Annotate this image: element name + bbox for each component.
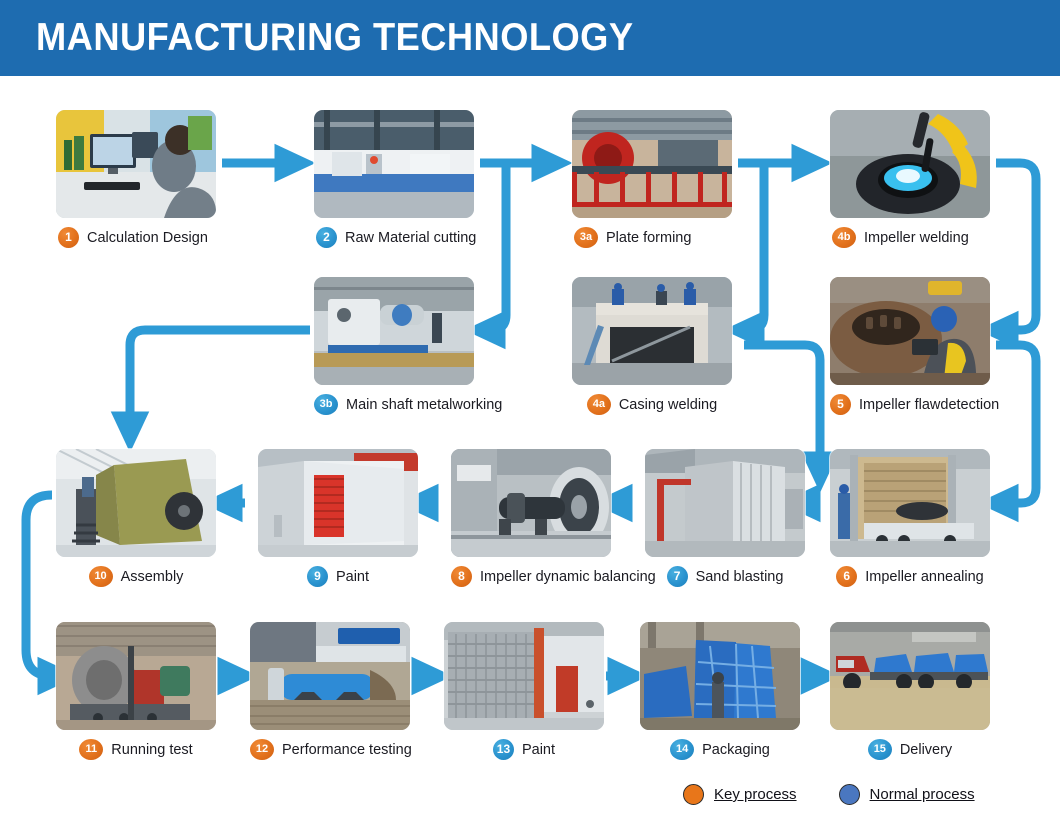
step-label: Plate forming [606, 230, 691, 246]
step-badge: 1 [58, 227, 79, 248]
step-impeller-annealing[interactable]: 6 Impeller annealing [830, 449, 990, 587]
step-delivery[interactable]: 15 Delivery [830, 622, 990, 760]
arrow-5-to-6 [996, 345, 1036, 503]
step-label: Paint [522, 742, 555, 758]
step-label: Impeller welding [864, 230, 969, 246]
photo-delivery [830, 622, 990, 730]
photo-impeller-flawdetection [830, 277, 990, 385]
photo-assembly [56, 449, 216, 557]
step-paint-13[interactable]: 13 Paint [444, 622, 604, 760]
step-label: Impeller dynamic balancing [480, 569, 656, 585]
step-raw-material-cutting[interactable]: 2 Raw Material cutting [314, 110, 476, 248]
step-assembly[interactable]: 10 Assembly [56, 449, 216, 587]
caption-paint-9: 9 Paint [258, 566, 418, 587]
caption-casing-welding: 4a Casing welding [572, 394, 732, 415]
step-main-shaft-metalworking[interactable]: 3b Main shaft metalworking [314, 277, 502, 415]
caption-paint-13: 13 Paint [444, 739, 604, 760]
step-casing-welding[interactable]: 4a Casing welding [572, 277, 732, 415]
caption-sand-blasting: 7 Sand blasting [645, 566, 805, 587]
photo-sand-blasting [645, 449, 805, 557]
step-impeller-dynamic-balancing[interactable]: 8 Impeller dynamic balancing [451, 449, 656, 587]
step-impeller-flawdetection[interactable]: 5 Impeller flawdetection [830, 277, 999, 415]
step-badge: 4a [587, 394, 611, 415]
caption-performance-testing: 12 Performance testing [250, 739, 412, 760]
caption-calculation-design: 1 Calculation Design [56, 227, 216, 248]
legend-item-normal-process: Normal process [839, 784, 975, 805]
step-calculation-design[interactable]: 1 Calculation Design [56, 110, 216, 248]
step-badge: 6 [836, 566, 857, 587]
step-badge: 12 [250, 739, 274, 760]
caption-impeller-flawdetection: 5 Impeller flawdetection [830, 394, 999, 415]
caption-plate-forming: 3a Plate forming [572, 227, 732, 248]
caption-main-shaft-metalworking: 3b Main shaft metalworking [314, 394, 502, 415]
step-badge: 5 [830, 394, 851, 415]
arrow-3b-to-10 [130, 330, 310, 432]
normal-process-dot-icon [839, 784, 860, 805]
step-label: Performance testing [282, 742, 412, 758]
step-label: Raw Material cutting [345, 230, 476, 246]
step-plate-forming[interactable]: 3a Plate forming [572, 110, 732, 248]
step-badge: 13 [493, 739, 514, 760]
step-badge: 3a [574, 227, 598, 248]
photo-plate-forming [572, 110, 732, 218]
caption-raw-material-cutting: 2 Raw Material cutting [314, 227, 476, 248]
step-impeller-welding[interactable]: 4b Impeller welding [830, 110, 990, 248]
step-badge: 7 [667, 566, 688, 587]
step-label: Delivery [900, 742, 952, 758]
photo-running-test [56, 622, 216, 730]
photo-impeller-annealing [830, 449, 990, 557]
step-badge: 15 [868, 739, 892, 760]
photo-impeller-welding [830, 110, 990, 218]
step-badge: 9 [307, 566, 328, 587]
step-label: Packaging [702, 742, 770, 758]
step-badge: 14 [670, 739, 694, 760]
photo-raw-material-cutting [314, 110, 474, 218]
step-label: Impeller annealing [865, 569, 984, 585]
manufacturing-flowchart: MANUFACTURING TECHNOLOGY [0, 0, 1060, 832]
step-paint-9[interactable]: 9 Paint [258, 449, 418, 587]
photo-paint-13 [444, 622, 604, 730]
step-label: Sand blasting [696, 569, 784, 585]
step-label: Assembly [121, 569, 184, 585]
step-badge: 4b [832, 227, 856, 248]
step-badge: 3b [314, 394, 338, 415]
step-label: Paint [336, 569, 369, 585]
caption-assembly: 10 Assembly [56, 566, 216, 587]
arrow-10-to-11 [26, 495, 58, 676]
step-label: Impeller flawdetection [859, 397, 999, 413]
photo-main-shaft-metalworking [314, 277, 474, 385]
legend-label-key: Key process [714, 786, 797, 803]
step-label: Main shaft metalworking [346, 397, 502, 413]
legend: Key process Normal process [683, 784, 975, 805]
step-label: Casing welding [619, 397, 717, 413]
photo-performance-testing [250, 622, 410, 730]
step-label: Running test [111, 742, 192, 758]
step-badge: 2 [316, 227, 337, 248]
photo-calculation-design [56, 110, 216, 218]
photo-casing-welding [572, 277, 732, 385]
step-label: Calculation Design [87, 230, 208, 246]
caption-impeller-annealing: 6 Impeller annealing [830, 566, 990, 587]
caption-delivery: 15 Delivery [830, 739, 990, 760]
step-badge: 10 [89, 566, 113, 587]
step-performance-testing[interactable]: 12 Performance testing [250, 622, 412, 760]
step-packaging[interactable]: 14 Packaging [640, 622, 800, 760]
photo-packaging [640, 622, 800, 730]
step-badge: 11 [79, 739, 103, 760]
arrow-4b-to-5 [996, 163, 1036, 330]
key-process-dot-icon [683, 784, 704, 805]
step-badge: 8 [451, 566, 472, 587]
photo-dynamic-balancing [451, 449, 611, 557]
caption-running-test: 11 Running test [56, 739, 216, 760]
caption-impeller-welding: 4b Impeller welding [830, 227, 990, 248]
caption-packaging: 14 Packaging [640, 739, 800, 760]
legend-label-normal: Normal process [870, 786, 975, 803]
step-running-test[interactable]: 11 Running test [56, 622, 216, 760]
arrow-3a-to-4a [744, 163, 764, 330]
legend-item-key-process: Key process [683, 784, 797, 805]
caption-impeller-dynamic-balancing: 8 Impeller dynamic balancing [451, 566, 656, 587]
photo-paint-booth [258, 449, 418, 557]
step-sand-blasting[interactable]: 7 Sand blasting [645, 449, 805, 587]
